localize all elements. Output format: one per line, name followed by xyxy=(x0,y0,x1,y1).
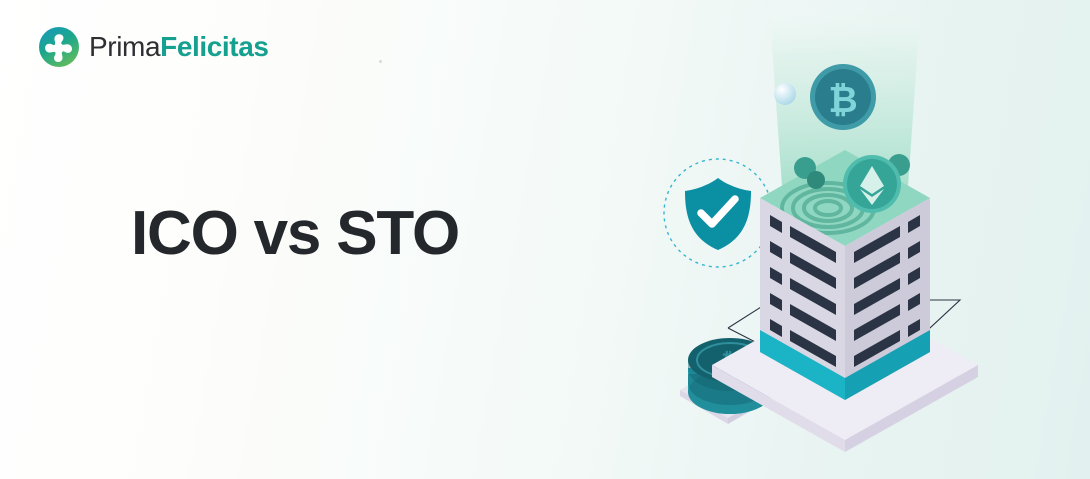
ico-vs-sto-isometric-illustration: ₿ xyxy=(600,0,1090,479)
decorative-speck xyxy=(379,60,382,63)
ethereum-coin-floating[interactable] xyxy=(843,155,901,213)
brand-logo[interactable]: PrimaFelicitas xyxy=(38,26,269,68)
primafelicitas-pinwheel-logo xyxy=(38,26,80,68)
bubble-teal-lower xyxy=(807,171,825,189)
brand-name: PrimaFelicitas xyxy=(89,33,269,61)
bitcoin-coin-floating[interactable]: ₿ xyxy=(810,64,876,130)
bubble-small-left xyxy=(774,83,796,105)
brand-name-part2: Felicitas xyxy=(160,31,268,62)
shield-check-badge[interactable] xyxy=(664,159,772,267)
page-title: ICO vs STO xyxy=(131,201,459,266)
bitcoin-glyph: ₿ xyxy=(828,79,857,120)
brand-name-part1: Prima xyxy=(89,31,160,62)
